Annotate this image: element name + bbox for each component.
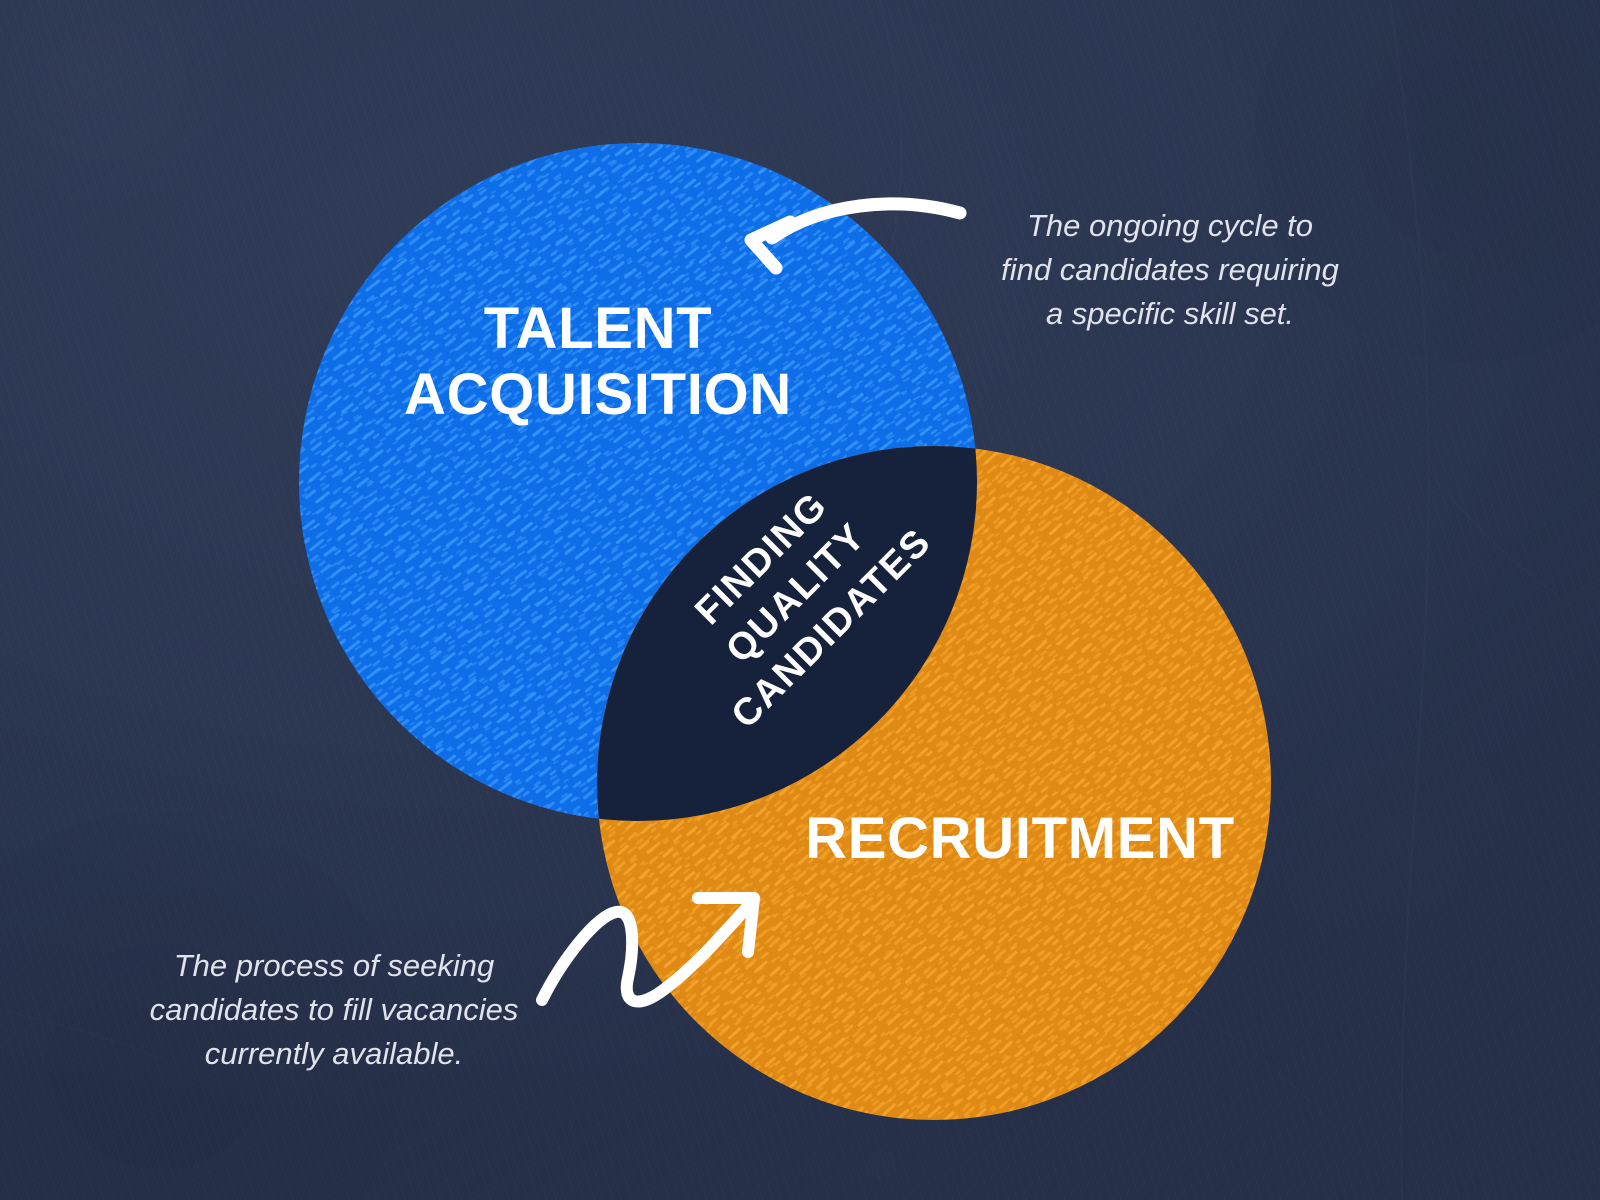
venn-diagram-canvas: TALENT ACQUISITION RECRUITMENT FINDING Q…	[0, 0, 1600, 1200]
venn-svg	[0, 0, 1600, 1200]
